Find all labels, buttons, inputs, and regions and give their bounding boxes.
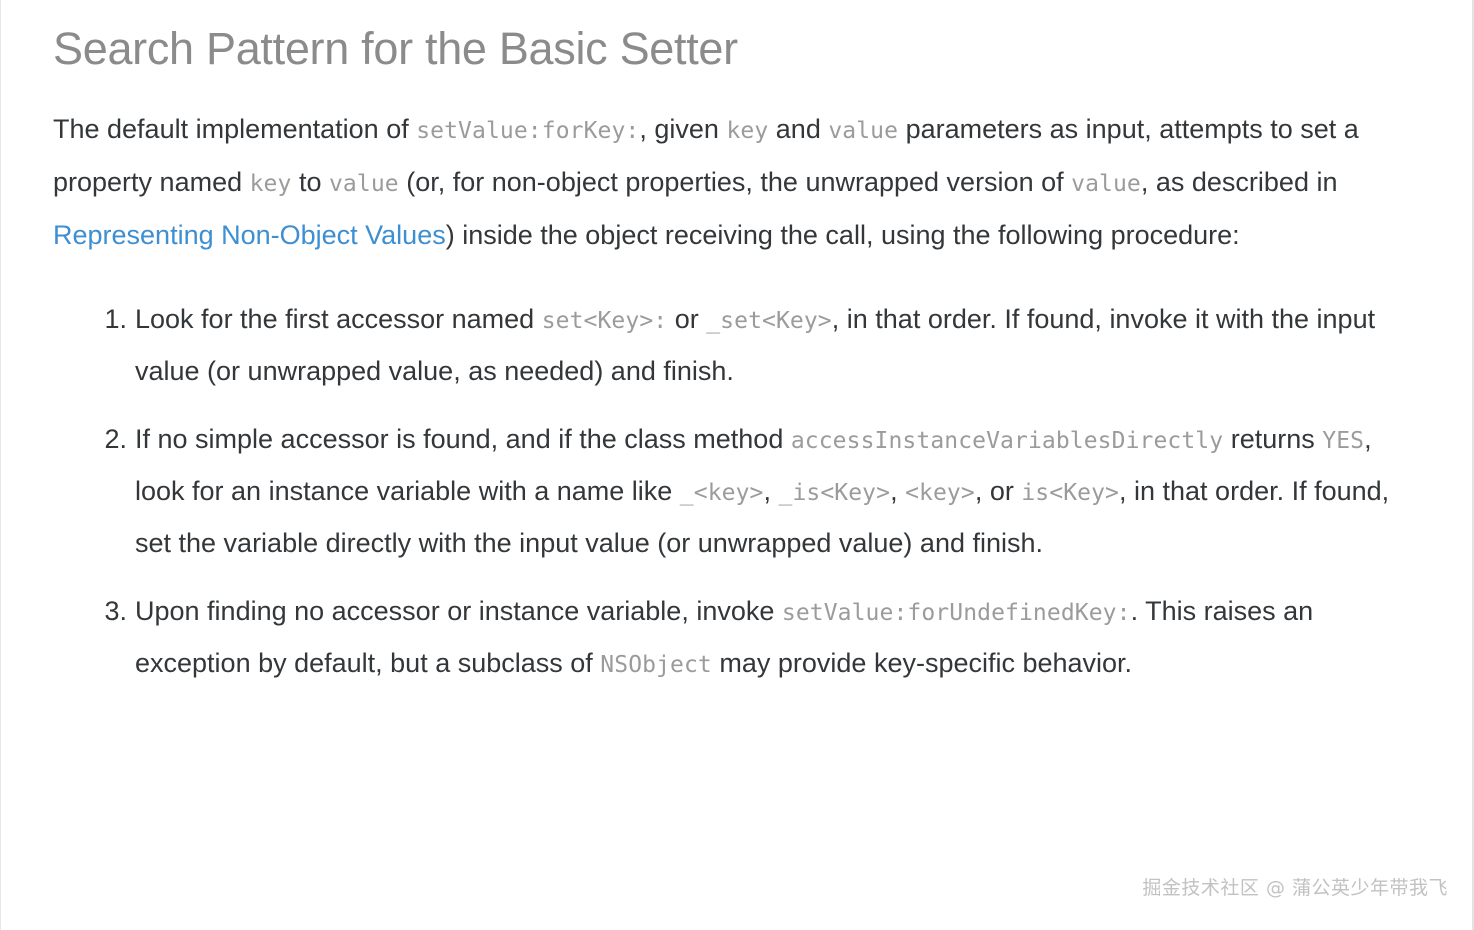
code-setvalue-forundefinedkey: setValue:forUndefinedKey: [782,600,1131,626]
intro-text-8: ) inside the object receiving the call, … [446,220,1240,250]
code-setvalue-forkey: setValue:forKey: [416,118,639,144]
code-set-key-colon: set<Key>: [542,308,668,334]
intro-text-5: to [291,167,329,197]
intro-text-2: , given [639,114,726,144]
code-nsobject: NSObject [600,652,712,678]
step-2-text-5: , [890,476,905,506]
procedure-list: Look for the first accessor named set<Ke… [53,293,1420,690]
document-content: Search Pattern for the Basic Setter The … [1,0,1472,689]
code-key-1: key [726,118,768,144]
code-underscore-key: _<key> [680,480,764,506]
step-1-text-2: or [667,304,706,334]
intro-paragraph: The default implementation of setValue:f… [53,103,1398,263]
code-key-lower: <key> [905,480,975,506]
code-yes: YES [1322,428,1364,454]
code-value-1: value [828,118,898,144]
document-page: Search Pattern for the Basic Setter The … [0,0,1474,930]
list-item: If no simple accessor is found, and if t… [97,413,1420,569]
step-3-text-1: Upon finding no accessor or instance var… [135,596,782,626]
code-value-3: value [1071,171,1141,197]
watermark: 掘金技术社区 @ 蒲公英少年带我飞 [1142,873,1448,900]
code-underscore-set-key: _set<Key> [706,308,832,334]
step-2-text-2: returns [1223,424,1322,454]
code-access-instance-variables-directly: accessInstanceVariablesDirectly [791,428,1223,454]
list-item: Look for the first accessor named set<Ke… [97,293,1420,397]
code-underscore-is-key: _is<Key> [779,480,891,506]
code-key-2: key [250,171,292,197]
step-2-text-4: , [763,476,778,506]
list-item: Upon finding no accessor or instance var… [97,585,1420,689]
step-2-text-1: If no simple accessor is found, and if t… [135,424,791,454]
intro-text-3: and [768,114,828,144]
intro-text-7: , as described in [1141,167,1338,197]
intro-text-6: (or, for non-object properties, the unwr… [399,167,1071,197]
step-1-text-1: Look for the first accessor named [135,304,542,334]
code-is-key: is<Key> [1021,480,1119,506]
step-2-text-6: , or [975,476,1022,506]
link-representing-non-object-values[interactable]: Representing Non-Object Values [53,220,446,250]
intro-text-1: The default implementation of [53,114,416,144]
page-title: Search Pattern for the Basic Setter [53,22,1420,81]
step-3-text-3: may provide key-specific behavior. [712,648,1132,678]
code-value-2: value [329,171,399,197]
